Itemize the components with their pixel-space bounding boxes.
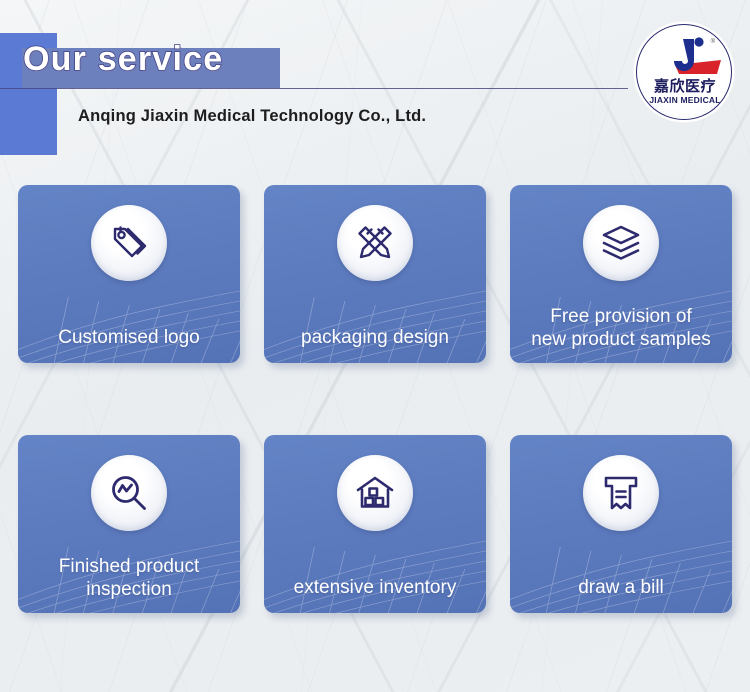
logo-name-en: JIAXIN MEDICAL: [637, 95, 732, 105]
service-card-extensive-inventory[interactable]: extensive inventory: [264, 435, 486, 613]
service-card-free-samples[interactable]: Free provision of new product samples: [510, 185, 732, 363]
header-divider: [0, 88, 628, 89]
company-name: Anqing Jiaxin Medical Technology Co., Lt…: [78, 107, 426, 126]
service-card-label: packaging design: [272, 326, 478, 349]
magnifier-chart-icon: [91, 455, 167, 531]
page-header: Our service Anqing Jiaxin Medical Techno…: [0, 0, 750, 170]
service-card-label: Free provision of new product samples: [518, 305, 724, 351]
service-card-customised-logo[interactable]: Customised logo: [18, 185, 240, 363]
trademark-symbol: ®: [711, 39, 715, 45]
service-card-label: Finished product inspection: [26, 555, 232, 601]
receipt-icon: [583, 455, 659, 531]
pencil-ruler-icon: [337, 205, 413, 281]
logo-name-cn: 嘉欣医疗: [637, 75, 732, 96]
service-card-label: Customised logo: [26, 326, 232, 349]
service-card-label: draw a bill: [518, 576, 724, 599]
logo-mark-icon: [637, 33, 732, 81]
service-card-packaging-design[interactable]: packaging design: [264, 185, 486, 363]
service-card-finished-product-inspection[interactable]: Finished product inspection: [18, 435, 240, 613]
layers-icon: [583, 205, 659, 281]
company-logo: ® 嘉欣医疗 JIAXIN MEDICAL: [636, 24, 732, 120]
services-grid: Customised logo packaging desi: [18, 185, 732, 613]
page-title: Our service: [23, 40, 223, 79]
warehouse-boxes-icon: [337, 455, 413, 531]
tags-icon: [91, 205, 167, 281]
service-card-draw-a-bill[interactable]: draw a bill: [510, 435, 732, 613]
service-card-label: extensive inventory: [272, 576, 478, 599]
